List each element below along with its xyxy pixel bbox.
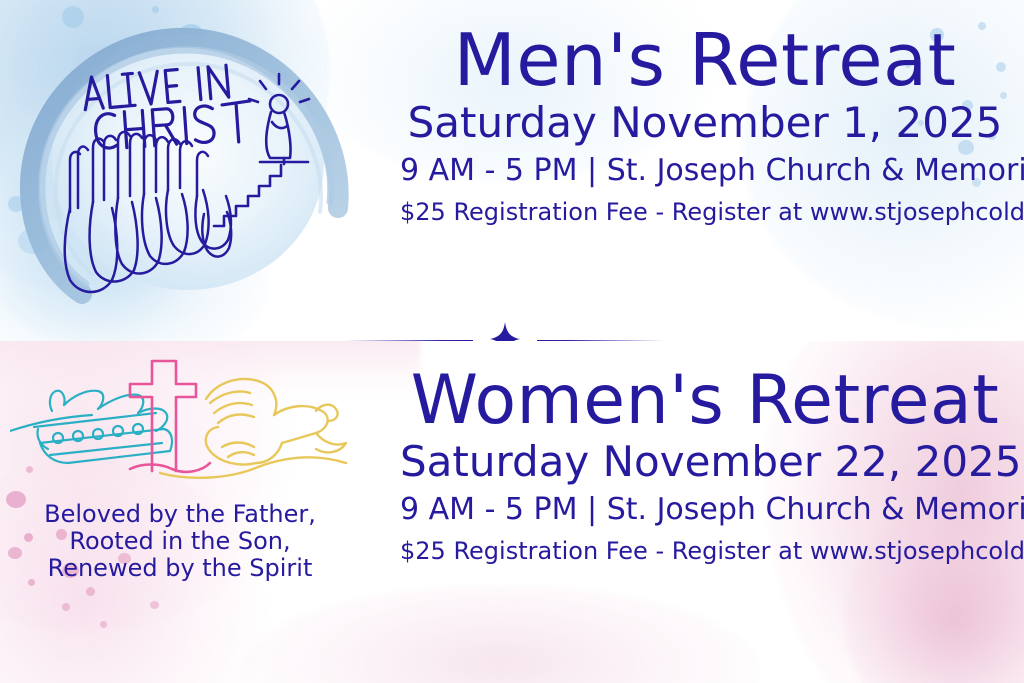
mens-retreat-registration: $25 Registration Fee - Register at www.s…: [400, 200, 1010, 224]
dove-icon: [160, 379, 346, 478]
mens-text-block: Men's Retreat Saturday November 1, 2025 …: [400, 24, 1010, 224]
tagline-line-3: Renewed by the Spirit: [10, 555, 350, 582]
mens-retreat-title: Men's Retreat: [400, 24, 1010, 96]
retreat-flyer: Men's Retreat Saturday November 1, 2025 …: [0, 0, 1024, 683]
womens-retreat-registration: $25 Registration Fee - Register at www.s…: [400, 539, 1010, 563]
mens-retreat-date: Saturday November 1, 2025: [400, 102, 1010, 144]
womens-retreat-tagline: Beloved by the Father, Rooted in the Son…: [10, 501, 350, 582]
pink-droplet: [86, 587, 95, 596]
womens-retreat-details: 9 AM - 5 PM | St. Joseph Church & Memori…: [400, 495, 1010, 525]
womens-retreat-artwork: [10, 359, 350, 484]
mens-retreat-panel: Men's Retreat Saturday November 1, 2025 …: [0, 0, 1024, 341]
pink-droplet: [62, 603, 70, 611]
mens-retreat-details: 9 AM - 5 PM | St. Joseph Church & Memori…: [400, 156, 1010, 186]
pink-droplet: [150, 601, 159, 609]
crown-icon: [10, 391, 172, 463]
pink-droplet: [100, 621, 107, 628]
pink-watercolor-bottom-center: [240, 586, 760, 683]
womens-retreat-title: Women's Retreat: [400, 367, 1010, 435]
tagline-line-1: Beloved by the Father,: [10, 501, 350, 528]
alive-in-christ-logo: [8, 12, 368, 312]
tagline-line-2: Rooted in the Son,: [10, 528, 350, 555]
womens-retreat-date: Saturday November 22, 2025: [400, 441, 1010, 483]
womens-text-block: Women's Retreat Saturday November 22, 20…: [400, 367, 1010, 563]
womens-retreat-panel: Beloved by the Father, Rooted in the Son…: [0, 341, 1024, 683]
